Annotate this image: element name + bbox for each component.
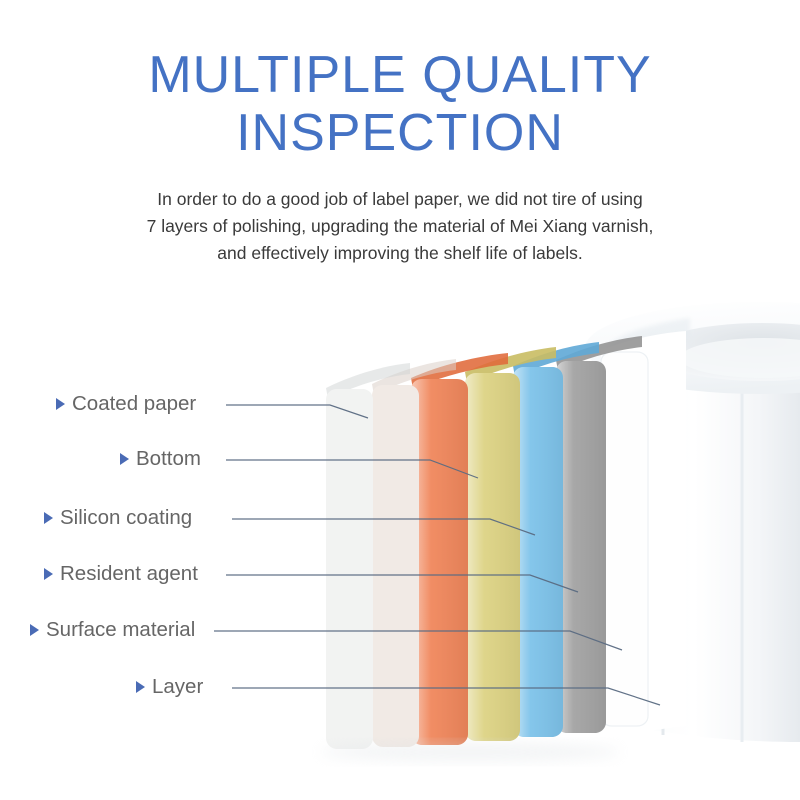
layer-sheet-sheen [556,361,606,733]
stack-drop-shadow [320,743,620,761]
callout-label: Resident agent [60,563,198,585]
callout-label: Surface material [46,619,195,641]
resident-agent-sheen [465,373,520,741]
quality-inspection-infographic: MULTIPLE QUALITY INSPECTION In order to … [0,0,800,800]
callout-silicon-coating[interactable]: Silicon coating [44,507,192,529]
triangle-bullet-icon [120,453,129,465]
callout-resident-agent[interactable]: Resident agent [44,563,198,585]
callout-surface-material[interactable]: Surface material [30,619,195,641]
callout-layer[interactable]: Layer [136,676,203,698]
callout-label: Coated paper [72,393,196,415]
coated-paper-face [326,389,373,749]
release-liner-face [601,352,648,726]
triangle-bullet-icon [136,681,145,693]
triangle-bullet-icon [30,624,39,636]
silicon-coating-sheen [411,379,468,745]
triangle-bullet-icon [56,398,65,410]
callout-bottom[interactable]: Bottom [120,448,201,470]
callout-label: Silicon coating [60,507,192,529]
callout-label: Bottom [136,448,201,470]
triangle-bullet-icon [44,568,53,580]
triangle-bullet-icon [44,512,53,524]
surface-material-sheen [513,367,563,737]
callout-coated-paper[interactable]: Coated paper [56,393,196,415]
callout-label: Layer [152,676,203,698]
release-liner-sheet [601,331,686,740]
bottom-sheet-face [372,385,419,747]
